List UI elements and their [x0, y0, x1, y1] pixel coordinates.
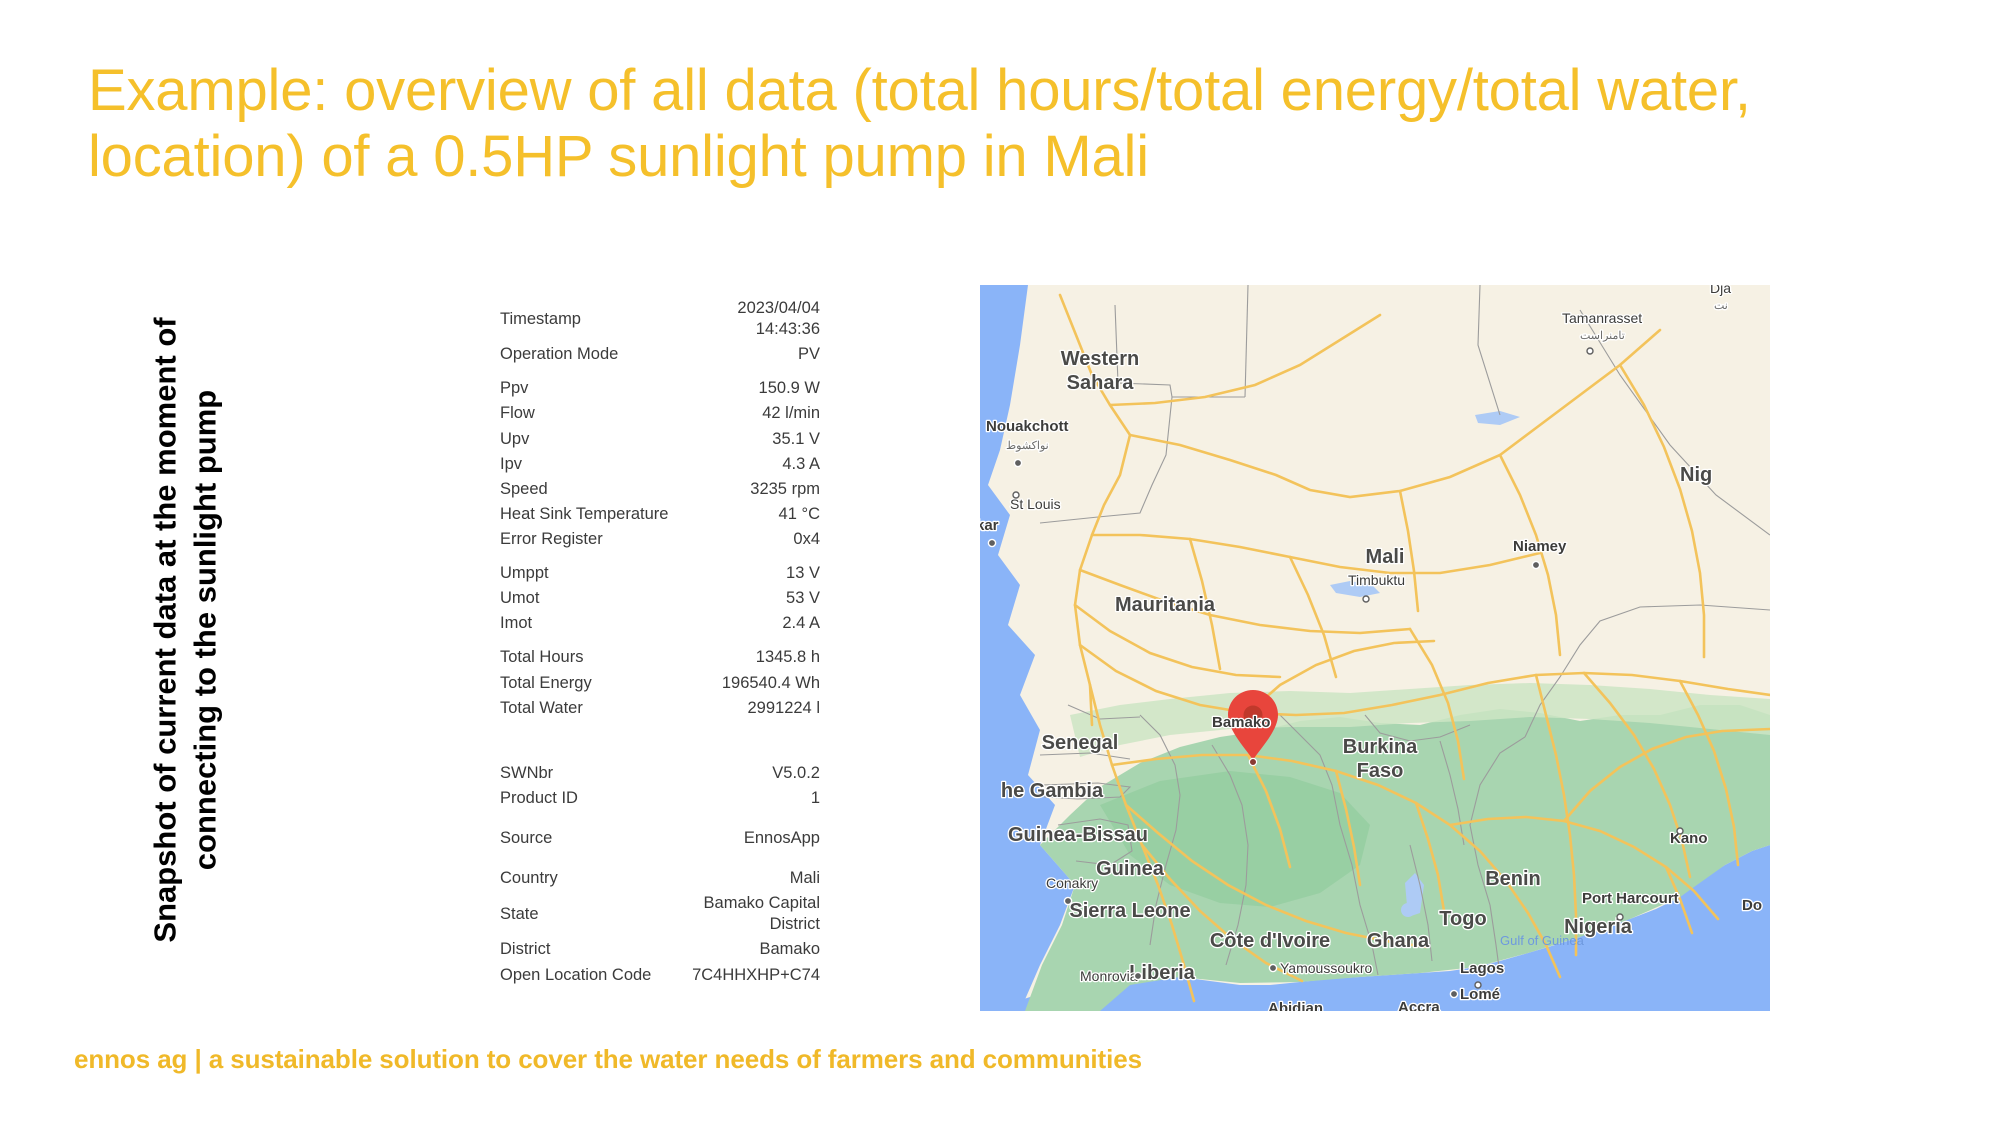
table-row: Error Register 0x4 [500, 527, 820, 552]
row-value: 150.9 W [536, 378, 820, 399]
map-label-senegal: Senegal [1042, 732, 1119, 754]
table-row: Operation Mode PV [500, 342, 820, 367]
map-label-togo: Togo [1439, 908, 1486, 930]
row-label: Speed [500, 479, 556, 500]
table-row: Product ID 1 [500, 786, 820, 811]
location-map[interactable]: Western Sahara Mauritania Mali Senegal h… [980, 285, 1770, 1011]
city-dot-port-harcourt [1617, 914, 1623, 920]
row-value: 41 °C [676, 504, 820, 525]
map-label-benin: Benin [1485, 868, 1541, 890]
city-dot-bamako [1249, 758, 1256, 765]
city-dot-st-louis [1013, 492, 1019, 498]
row-gap [500, 552, 820, 561]
row-label: District [500, 939, 558, 960]
table-row: SWNbr V5.0.2 [500, 761, 820, 786]
map-label-nouakchott: Nouakchott [986, 418, 1069, 435]
map-label-guinea-bissau: Guinea-Bissau [1008, 824, 1148, 846]
map-label-niger: Nig [1680, 464, 1712, 486]
map-label-cote-divoire: Côte d'Ivoire [1210, 930, 1330, 952]
map-label-dakar: kar [980, 517, 999, 534]
row-label: State [500, 904, 547, 925]
city-dot-conakry [1064, 897, 1071, 904]
table-row: Timestamp 2023/04/04 14:43:36 [500, 296, 820, 342]
map-label-niamey: Niamey [1513, 538, 1567, 555]
city-dot-timbuktu [1363, 596, 1369, 602]
row-gap [500, 636, 820, 645]
row-label: Product ID [500, 788, 586, 809]
map-label-nouakchott-ar: نواكشوط [1006, 440, 1049, 452]
table-row: Heat Sink Temperature 41 °C [500, 502, 820, 527]
row-label: Umppt [500, 563, 557, 584]
row-label: Heat Sink Temperature [500, 504, 676, 525]
row-value: 42 l/min [543, 403, 820, 424]
row-label: Total Energy [500, 673, 600, 694]
row-value: 13 V [557, 563, 820, 584]
row-value: 2023/04/04 14:43:36 [589, 298, 820, 340]
map-label-timbuktu: Timbuktu [1348, 572, 1405, 588]
row-label: Total Water [500, 698, 591, 719]
row-value: PV [626, 344, 820, 365]
map-label-port-harcourt: Port Harcourt [1582, 890, 1679, 907]
map-label-douala: Do [1742, 897, 1762, 914]
table-row: Umppt 13 V [500, 561, 820, 586]
footer-tagline: ennos ag | a sustainable solution to cov… [74, 1044, 1142, 1075]
map-label-ghana: Ghana [1367, 930, 1430, 952]
side-caption-container: Snapshot of current data at the moment o… [70, 280, 300, 980]
map-label-bamako: Bamako [1212, 714, 1270, 731]
row-value: 53 V [547, 588, 820, 609]
table-row: Country Mali [500, 866, 820, 891]
map-label-accra: Accra [1398, 999, 1440, 1011]
city-dot-nouakchott [1014, 459, 1021, 466]
table-row: Source EnnosApp [500, 826, 820, 851]
row-label: Imot [500, 613, 540, 634]
row-value: 1345.8 h [591, 647, 820, 668]
map-label-dja: Dja [1710, 285, 1731, 296]
map-label-the-gambia: he Gambia [1001, 780, 1104, 802]
row-label: Flow [500, 403, 543, 424]
row-value: 7C4HHXHP+C74 [659, 965, 820, 986]
row-label: Umot [500, 588, 547, 609]
row-value: Bamako Capital District [547, 893, 820, 935]
row-label: Upv [500, 429, 537, 450]
row-gap [500, 851, 820, 866]
map-label-st-louis: St Louis [1010, 496, 1061, 512]
city-dot-kano [1677, 828, 1683, 834]
table-row: Umot 53 V [500, 586, 820, 611]
row-value: V5.0.2 [561, 763, 820, 784]
table-row: Total Hours 1345.8 h [500, 645, 820, 670]
row-value: 2991224 l [591, 698, 820, 719]
city-dot-lagos [1475, 982, 1481, 988]
map-label-dja-ar: نت [1714, 300, 1728, 312]
row-gap [500, 367, 820, 376]
table-row: Upv 35.1 V [500, 427, 820, 452]
map-label-burkina: Burkina [1343, 736, 1418, 758]
map-label-abidjan: Abidjan [1268, 1000, 1323, 1011]
table-row: Ipv 4.3 A [500, 452, 820, 477]
row-value: EnnosApp [560, 828, 820, 849]
table-row: Open Location Code 7C4HHXHP+C74 [500, 963, 820, 988]
row-value: 196540.4 Wh [600, 673, 820, 694]
row-value: 35.1 V [537, 429, 820, 450]
row-label: Source [500, 828, 560, 849]
row-value: 3235 rpm [556, 479, 820, 500]
map-label-guinea: Guinea [1096, 858, 1165, 880]
table-row: District Bamako [500, 937, 820, 962]
row-label: Ppv [500, 378, 536, 399]
city-dot-tamanrasset [1587, 348, 1593, 354]
side-caption: Snapshot of current data at the moment o… [145, 300, 224, 960]
row-value: Mali [566, 868, 820, 889]
row-value: 4.3 A [530, 454, 820, 475]
table-row: Flow 42 l/min [500, 401, 820, 426]
map-label-tamanrasset-ar: تامنراست [1580, 330, 1625, 342]
map-label-western-sahara-2: Sahara [1067, 372, 1135, 394]
city-dot-lome [1450, 990, 1457, 997]
table-row: Speed 3235 rpm [500, 477, 820, 502]
city-dot-niamey [1532, 561, 1539, 568]
table-row: Total Energy 196540.4 Wh [500, 671, 820, 696]
table-row: Ppv 150.9 W [500, 376, 820, 401]
row-label: SWNbr [500, 763, 561, 784]
row-gap [500, 721, 820, 761]
map-label-mauritania: Mauritania [1115, 594, 1216, 616]
table-row: State Bamako Capital District [500, 891, 820, 937]
row-value: 2.4 A [540, 613, 820, 634]
pump-data-table: Timestamp 2023/04/04 14:43:36 Operation … [500, 296, 820, 988]
row-value: Bamako [558, 939, 820, 960]
map-label-tamanrasset: Tamanrasset [1562, 310, 1642, 326]
map-label-sierra-leone: Sierra Leone [1069, 900, 1190, 922]
map-label-lagos: Lagos [1460, 960, 1504, 977]
row-gap [500, 811, 820, 826]
city-dot-monrovia [1134, 972, 1141, 979]
table-row: Total Water 2991224 l [500, 696, 820, 721]
map-label-monrovia: Monrovia [1080, 968, 1138, 984]
map-label-kano: Kano [1670, 830, 1708, 847]
map-label-western-sahara: Western [1061, 348, 1140, 370]
table-row: Imot 2.4 A [500, 611, 820, 636]
map-label-lome: Lomé [1460, 986, 1500, 1003]
row-value: 0x4 [611, 529, 820, 550]
row-label: Open Location Code [500, 965, 659, 986]
row-label: Country [500, 868, 566, 889]
map-label-yamoussoukro: Yamoussoukro [1280, 960, 1373, 976]
row-label: Ipv [500, 454, 530, 475]
city-dot-yamoussoukro [1269, 964, 1276, 971]
row-value: 1 [586, 788, 820, 809]
map-label-burkina-2: Faso [1357, 760, 1404, 782]
map-label-conakry: Conakry [1046, 875, 1098, 891]
page-title: Example: overview of all data (total hou… [88, 58, 1928, 190]
row-label: Error Register [500, 529, 611, 550]
row-label: Total Hours [500, 647, 591, 668]
row-label: Timestamp [500, 309, 589, 330]
map-label-mali: Mali [1366, 546, 1405, 568]
map-label-gulf-of-guinea: Gulf of Guinea [1500, 933, 1585, 948]
city-dot-dakar [988, 539, 995, 546]
row-label: Operation Mode [500, 344, 626, 365]
